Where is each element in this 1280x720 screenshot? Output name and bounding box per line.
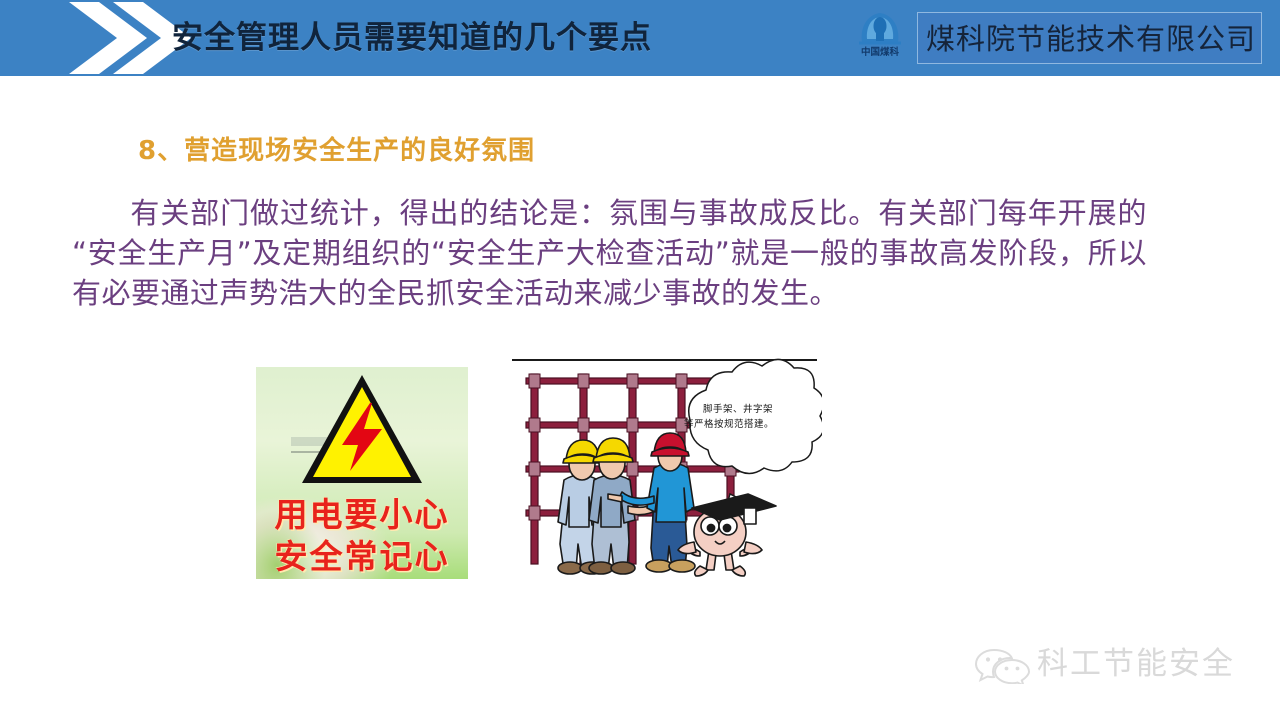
watermark-text: 科工节能安全 [1037, 642, 1235, 686]
slide-root: 安全管理人员需要知道的几个要点 中国煤科 煤科院节能技术有限公司 8、营造现场安… [0, 0, 1280, 720]
poster-line-1: 用电要小心 [256, 488, 468, 536]
body-text: 有关部门做过统计，得出的结论是：氛围与事故成反比。有关部门每年开展的“安全生产月… [72, 196, 1147, 310]
poster-line-2: 安全常记心 [256, 530, 468, 578]
scaffolding-safety-cartoon [504, 356, 822, 582]
speech-text: 脚手架、井字架等严格按规范搭建。 [684, 404, 774, 430]
china-coal-logo-icon: 中国煤科 [849, 9, 911, 69]
wechat-watermark: 科工节能安全 [975, 640, 1250, 692]
company-name: 煤科院节能技术有限公司 [926, 18, 1256, 60]
speech-bubble-text: 脚手架、井字架等严格按规范搭建。 [684, 402, 780, 432]
body-paragraph: 有关部门做过统计，得出的结论是：氛围与事故成反比。有关部门每年开展的“安全生产月… [72, 193, 1147, 313]
high-voltage-triangle-icon [298, 371, 426, 489]
section-title: 8、营造现场安全生产的良好氛围 [138, 133, 535, 169]
logo-text: 中国煤科 [849, 47, 911, 59]
slide-header: 安全管理人员需要知道的几个要点 中国煤科 煤科院节能技术有限公司 [0, 0, 1280, 76]
wechat-icon [975, 646, 1031, 684]
electrical-safety-poster: 用电要小心 安全常记心 [256, 367, 468, 579]
company-name-box: 煤科院节能技术有限公司 [917, 12, 1262, 64]
page-title: 安全管理人员需要知道的几个要点 [172, 14, 652, 62]
